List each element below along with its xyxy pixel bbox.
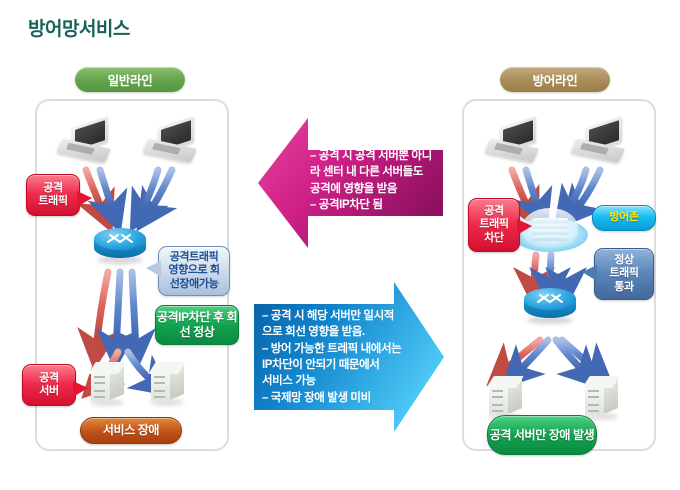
server-icon [582, 376, 622, 420]
callout-line-fault-possible: 공격트래픽 영향으로 회 선장애가능 [158, 246, 230, 296]
callout-line: 트래픽 [605, 267, 642, 280]
router-icon [94, 228, 146, 264]
laptop-icon [146, 122, 198, 162]
diagram-canvas: 방어망서비스 일반라인 방어라인 [0, 0, 680, 490]
callout-line: 통과 [605, 281, 642, 294]
server-icon [148, 362, 188, 406]
callout-line: 선장애가능 [164, 278, 223, 291]
badge-line: 공격 서버만 [490, 428, 546, 442]
laptop-icon [60, 122, 112, 162]
callout-line: 서버 [35, 385, 62, 398]
callout-attack-traffic-blocked: 공격 트래픽 차단 [468, 198, 520, 252]
callout-normal-traffic-pass: 정상 트래픽 통과 [594, 248, 654, 300]
callout-attack-traffic: 공격 트래픽 [26, 174, 80, 216]
callout-line: 영향으로 회 [164, 264, 223, 277]
callout-attack-server: 공격 서버 [22, 364, 76, 406]
callout-line: 방어존 [605, 211, 642, 224]
badge-line: 서비스 장애 [103, 423, 159, 438]
center-arrow-defense-line-result: – 공격 시 해당 서버만 일시적 으로 회선 영향을 받음. – 방어 가능한… [254, 282, 444, 432]
laptop-icon [574, 122, 626, 162]
server-icon [88, 362, 128, 406]
callout-line: 공격트래픽 [164, 251, 223, 264]
center-arrow-defense-line-text: – 공격 시 해당 서버만 일시적 으로 회선 영향을 받음. – 방어 가능한… [262, 308, 404, 406]
callout-line: 공격 [35, 372, 62, 385]
callout-line: 정상 [605, 254, 642, 267]
badge-ip-block-normal: 공격IP차단 후 회선 정상 [155, 305, 239, 345]
center-arrow-general-line-text: – 공격 시 공격 서버뿐 아니 라 센터 내 다른 서버들도 공격에 영향을 … [310, 148, 442, 213]
header-pill-general-line: 일반라인 [75, 67, 185, 92]
header-pill-general-line-label: 일반라인 [108, 70, 153, 89]
callout-line: 공격 [475, 205, 512, 218]
callout-line: 차단 [475, 232, 512, 245]
center-arrow-general-line-result: – 공격 시 공격 서버뿐 아니 라 센터 내 다른 서버들도 공격에 영향을 … [258, 118, 443, 248]
header-pill-defense-line-label: 방어라인 [533, 70, 578, 89]
callout-defense-zone: 방어존 [592, 205, 656, 231]
badge-line: 장애 발생 [549, 428, 595, 442]
badge-attack-server-only-fault: 공격 서버만 장애 발생 [487, 415, 597, 455]
badge-line: 공격IP차단 후 [157, 310, 224, 324]
callout-line: 공격 [34, 182, 71, 195]
header-pill-defense-line: 방어라인 [500, 67, 610, 92]
callout-line: 트래픽 [475, 218, 512, 231]
page-title: 방어망서비스 [28, 14, 130, 41]
server-icon [486, 376, 526, 420]
callout-line: 트래픽 [34, 195, 71, 208]
laptop-icon [488, 122, 540, 162]
badge-service-failure: 서비스 장애 [80, 417, 182, 444]
router-icon [524, 288, 576, 324]
